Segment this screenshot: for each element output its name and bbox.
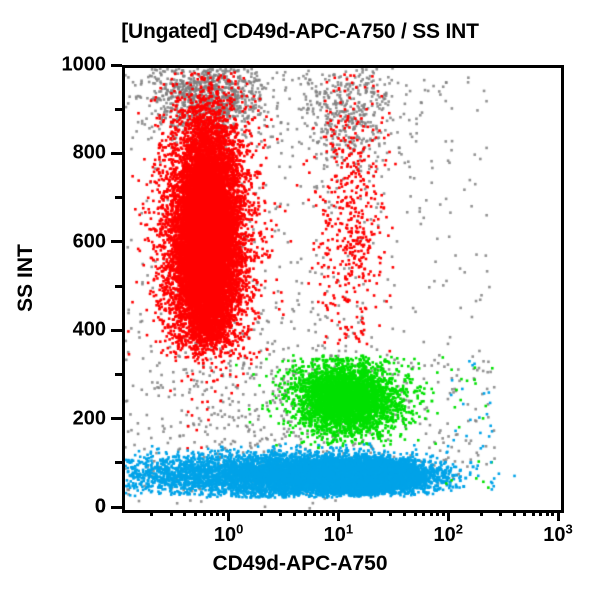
y-tick-major: [111, 152, 122, 155]
y-tick-major: [111, 64, 122, 67]
x-tick-minor: [422, 510, 425, 516]
y-tick-major: [111, 417, 122, 420]
y-tick-major: [111, 506, 122, 509]
x-tick-minor: [480, 510, 483, 516]
x-tick-minor: [523, 510, 526, 516]
flow-cytometry-plot: [Ungated] CD49d-APC-A750 / SS INT SS INT…: [0, 0, 600, 600]
y-tick-minor: [115, 196, 122, 199]
x-tick-minor: [279, 510, 282, 516]
y-tick-minor: [115, 373, 122, 376]
page-title: [Ungated] CD49d-APC-A750 / SS INT: [0, 20, 600, 44]
x-tick-minor: [183, 510, 186, 516]
scatter-plot-canvas: [125, 68, 561, 510]
x-tick-label: 100: [214, 524, 243, 547]
x-tick-minor: [389, 510, 392, 516]
y-tick-minor: [115, 461, 122, 464]
y-tick-label: 1000: [20, 54, 106, 77]
y-tick-label: 400: [20, 319, 106, 342]
y-tick-major: [111, 329, 122, 332]
x-tick-minor: [222, 510, 225, 516]
x-tick-minor: [313, 510, 316, 516]
x-axis-title: CD49d-APC-A750: [0, 552, 600, 576]
y-tick-minor: [115, 108, 122, 111]
x-tick-label: 101: [324, 524, 353, 547]
x-tick-minor: [403, 510, 406, 516]
x-tick-minor: [414, 510, 417, 516]
y-tick-label: 800: [20, 142, 106, 165]
x-tick-minor: [546, 510, 549, 516]
x-tick-minor: [293, 510, 296, 516]
x-tick-minor: [370, 510, 373, 516]
x-tick-minor: [430, 510, 433, 516]
x-tick-minor: [203, 510, 206, 516]
y-tick-major: [111, 240, 122, 243]
x-tick-major: [227, 510, 230, 521]
x-axis-origin-label: 0: [20, 496, 106, 519]
x-tick-major: [447, 510, 450, 521]
x-tick-minor: [260, 510, 263, 516]
x-tick-minor: [150, 510, 153, 516]
x-tick-minor: [499, 510, 502, 516]
x-tick-minor: [210, 510, 213, 516]
x-tick-minor: [539, 510, 542, 516]
x-tick-minor: [513, 510, 516, 516]
y-tick-label: 200: [20, 407, 106, 430]
x-tick-minor: [436, 510, 439, 516]
x-tick-minor: [320, 510, 323, 516]
plot-area: [122, 65, 564, 513]
x-tick-minor: [442, 510, 445, 516]
x-tick-minor: [170, 510, 173, 516]
x-tick-label: 103: [543, 524, 572, 547]
y-tick-minor: [115, 285, 122, 288]
y-tick-label: 600: [20, 230, 106, 253]
x-tick-major: [337, 510, 340, 521]
x-tick-minor: [332, 510, 335, 516]
x-tick-label: 102: [433, 524, 462, 547]
x-tick-minor: [532, 510, 535, 516]
x-tick-minor: [194, 510, 197, 516]
x-tick-minor: [304, 510, 307, 516]
x-tick-minor: [216, 510, 219, 516]
x-tick-major: [557, 510, 560, 521]
x-tick-minor: [326, 510, 329, 516]
x-tick-minor: [551, 510, 554, 516]
